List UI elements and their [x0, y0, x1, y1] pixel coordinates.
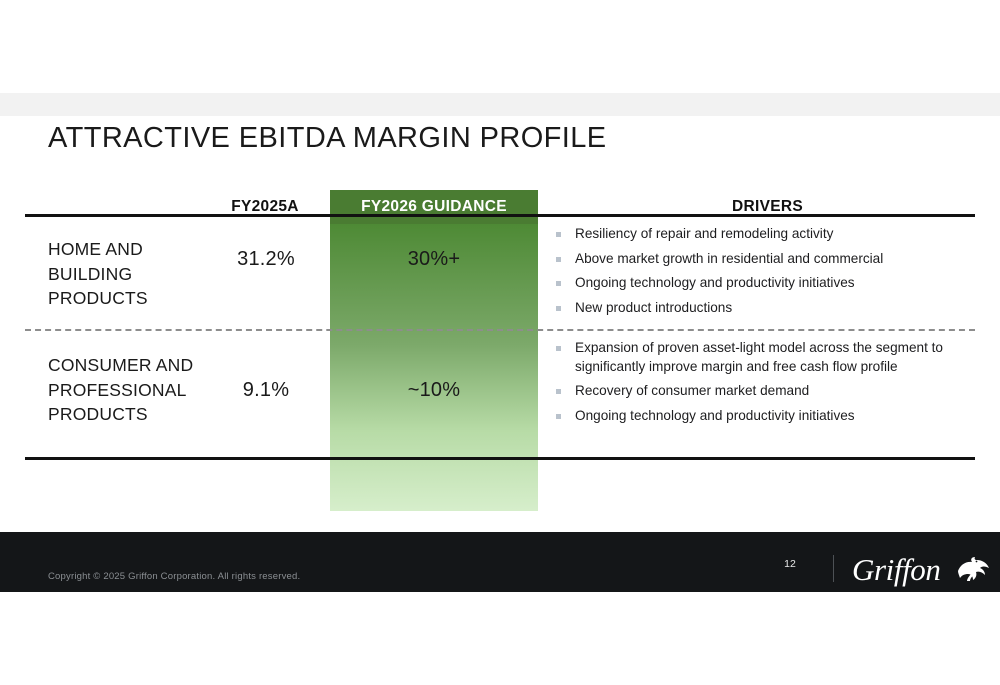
company-logo: Griffon: [852, 552, 992, 588]
list-item: Above market growth in residential and c…: [554, 250, 982, 269]
list-item: New product introductions: [554, 299, 982, 318]
driver-text: Ongoing technology and productivity init…: [575, 275, 855, 290]
list-item: Recovery of consumer market demand: [554, 382, 982, 401]
table-row: HOME AND BUILDING PRODUCTS 31.2% 30%+ Re…: [0, 217, 1000, 329]
segment-name: HOME AND BUILDING PRODUCTS: [48, 237, 213, 311]
bottom-white-band: [0, 592, 1000, 685]
griffin-emblem-icon: [956, 556, 990, 587]
segment-guidance-margin: 30%+: [330, 248, 538, 271]
column-header-fy2025a: FY2025A: [200, 198, 330, 216]
footer-divider: [833, 555, 834, 582]
segment-name: CONSUMER AND PROFESSIONAL PRODUCTS: [48, 353, 213, 427]
driver-text: Expansion of proven asset-light model ac…: [575, 340, 943, 374]
segment-actual-margin: 9.1%: [205, 379, 327, 402]
square-bullet-icon: [556, 414, 561, 419]
driver-text: Recovery of consumer market demand: [575, 383, 809, 398]
page-number: 12: [770, 558, 810, 570]
page-title: ATTRACTIVE EBITDA MARGIN PROFILE: [48, 122, 607, 155]
list-item: Ongoing technology and productivity init…: [554, 274, 982, 293]
square-bullet-icon: [556, 306, 561, 311]
list-item: Resiliency of repair and remodeling acti…: [554, 225, 982, 244]
slide-footer: Copyright © 2025 Griffon Corporation. Al…: [0, 532, 1000, 592]
driver-text: New product introductions: [575, 300, 732, 315]
driver-text: Ongoing technology and productivity init…: [575, 408, 855, 423]
slide-content: ATTRACTIVE EBITDA MARGIN PROFILE FY2025A…: [0, 116, 1000, 532]
list-item: Expansion of proven asset-light model ac…: [554, 339, 982, 376]
top-gray-band: [0, 93, 1000, 116]
table-bottom-rule: [25, 457, 975, 460]
column-header-fy2026-guidance: FY2026 GUIDANCE: [330, 198, 538, 216]
top-white-band: [0, 0, 1000, 93]
list-item: Ongoing technology and productivity init…: [554, 407, 982, 426]
driver-text: Resiliency of repair and remodeling acti…: [575, 226, 833, 241]
column-header-drivers: DRIVERS: [555, 198, 980, 216]
copyright-text: Copyright © 2025 Griffon Corporation. Al…: [48, 571, 300, 582]
table-row: CONSUMER AND PROFESSIONAL PRODUCTS 9.1% …: [0, 331, 1000, 457]
logo-wordmark: Griffon: [852, 552, 941, 588]
square-bullet-icon: [556, 232, 561, 237]
square-bullet-icon: [556, 281, 561, 286]
square-bullet-icon: [556, 389, 561, 394]
square-bullet-icon: [556, 346, 561, 351]
square-bullet-icon: [556, 257, 561, 262]
segment-guidance-margin: ~10%: [330, 379, 538, 402]
drivers-list: Resiliency of repair and remodeling acti…: [554, 225, 982, 323]
segment-actual-margin: 31.2%: [205, 248, 327, 271]
drivers-list: Expansion of proven asset-light model ac…: [554, 339, 982, 431]
driver-text: Above market growth in residential and c…: [575, 251, 883, 266]
